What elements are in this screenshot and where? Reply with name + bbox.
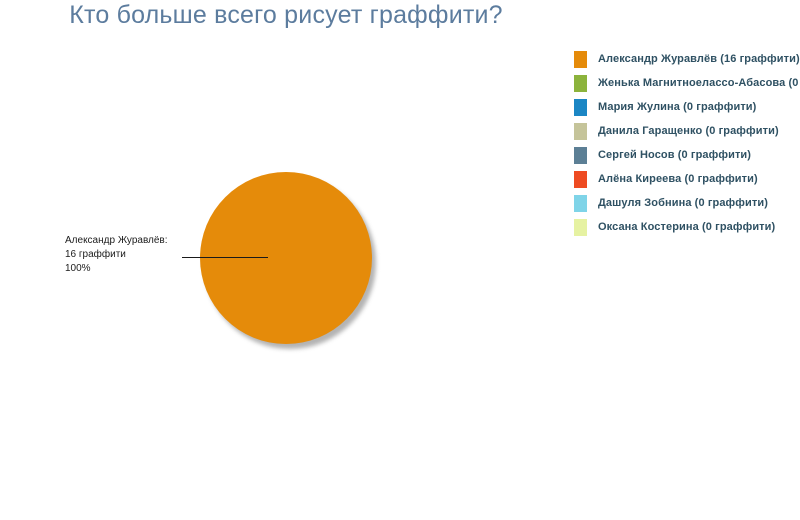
legend-item[interactable]: Алёна Киреева (0 граффити): [571, 167, 800, 191]
pie-graphic: [200, 172, 372, 344]
callout-line-name: Александр Журавлёв:: [65, 234, 195, 248]
legend-color-swatch-icon: [574, 195, 587, 212]
legend-color-swatch-icon: [574, 171, 587, 188]
legend-item-label: Сергей Носов (0 граффити): [598, 149, 751, 161]
legend-color-swatch-icon: [574, 147, 587, 164]
legend-item[interactable]: Оксана Костерина (0 граффити): [571, 215, 800, 239]
callout-line-percent: 100%: [65, 262, 195, 276]
page-title: Кто больше всего рисует граффити?: [0, 1, 572, 30]
legend-item[interactable]: Сергей Носов (0 граффити): [571, 143, 800, 167]
legend-item-label: Дашуля Зобнина (0 граффити): [598, 197, 768, 209]
callout-line-value: 16 граффити: [65, 248, 195, 262]
legend-color-swatch-icon: [574, 99, 587, 116]
legend-color-swatch-icon: [574, 123, 587, 140]
legend: Александр Журавлёв (16 граффити) Женька …: [571, 47, 800, 257]
legend-item[interactable]: Мария Жулина (0 граффити): [571, 95, 800, 119]
legend-item-label: Мария Жулина (0 граффити): [598, 101, 756, 113]
legend-item-label: Александр Журавлёв (16 граффити): [598, 53, 800, 65]
pie-slice-aleksandr-zhuravlev[interactable]: [200, 172, 372, 344]
legend-item-label: Женька Магнитноелассо-Абасова (0 г: [598, 77, 800, 89]
legend-item-label: Оксана Костерина (0 граффити): [598, 221, 775, 233]
legend-item-label: Алёна Киреева (0 граффити): [598, 173, 758, 185]
legend-item-label: Данила Гаращенко (0 граффити): [598, 125, 779, 137]
legend-color-swatch-icon: [574, 219, 587, 236]
legend-color-swatch-icon: [574, 51, 587, 68]
pie-slice-callout-label: Александр Журавлёв: 16 граффити 100%: [65, 234, 195, 276]
legend-color-swatch-icon: [574, 75, 587, 92]
legend-item[interactable]: Женька Магнитноелассо-Абасова (0 г: [571, 71, 800, 95]
plot-area: Александр Журавлёв: 16 граффити 100%: [0, 36, 566, 520]
legend-item[interactable]: Александр Журавлёв (16 граффити): [571, 47, 800, 71]
pie-chart-widget: Кто больше всего рисует граффити? Алекса…: [0, 0, 800, 520]
legend-item[interactable]: Дашуля Зобнина (0 граффити): [571, 191, 800, 215]
legend-item[interactable]: Данила Гаращенко (0 граффити): [571, 119, 800, 143]
